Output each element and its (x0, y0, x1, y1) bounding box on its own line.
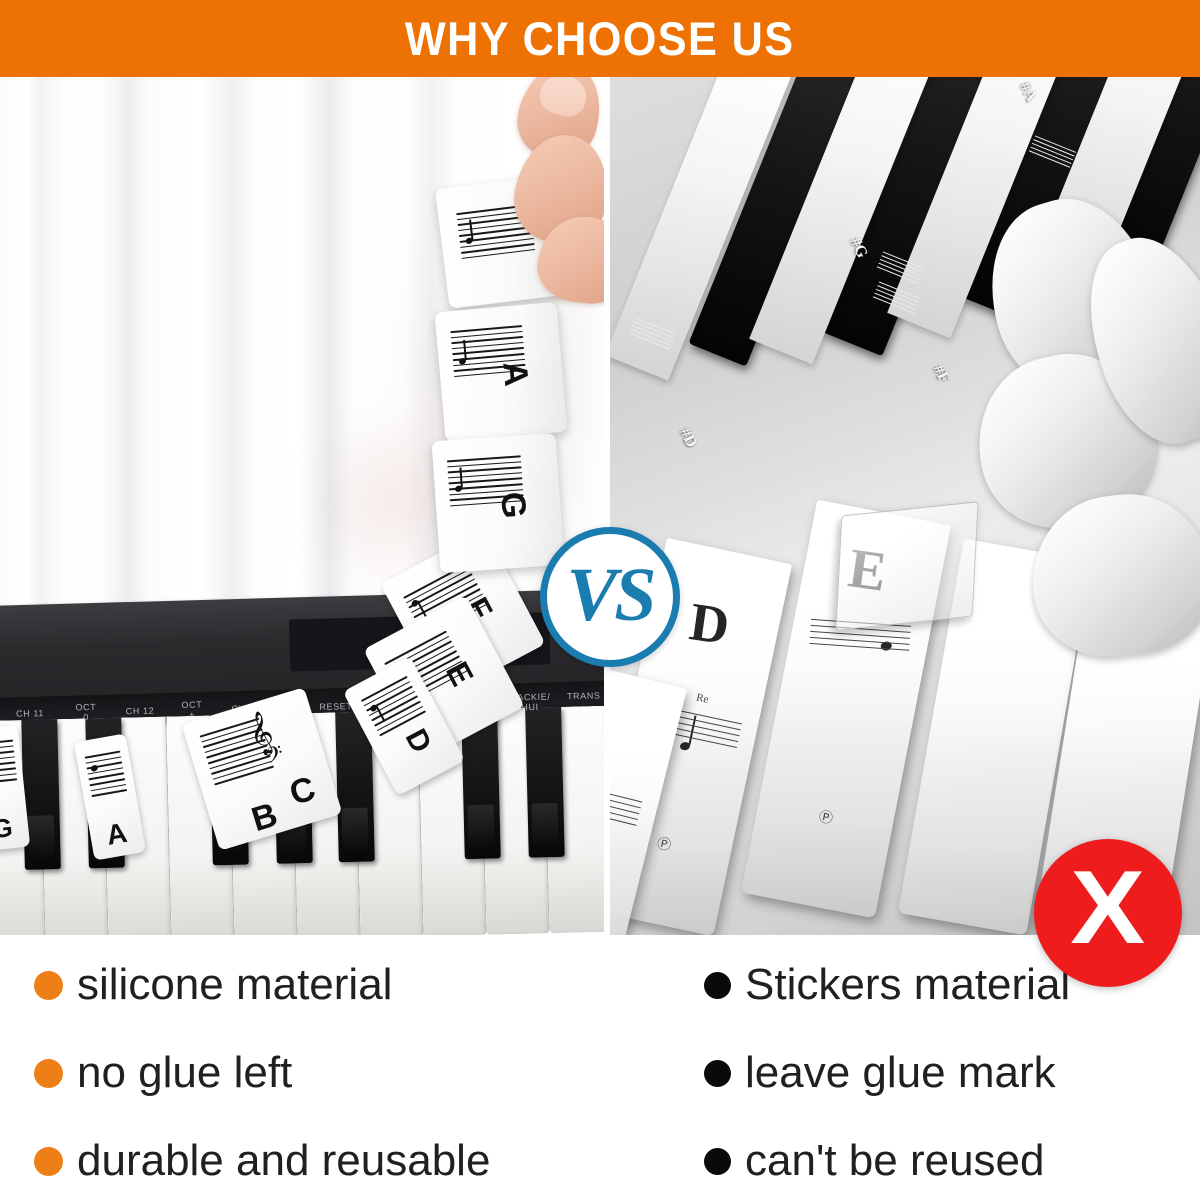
reject-label: X (1071, 856, 1146, 960)
header-banner: WHY CHOOSE US (0, 0, 1200, 77)
music-staff (85, 751, 128, 801)
bullet-dot-icon (34, 1147, 63, 1176)
octave-marker: Ⓟ (817, 806, 835, 828)
vs-badge: VS (540, 527, 680, 667)
infographic-page: WHY CHOOSE US CH 11 OCT 0 CH 12 OCT + CH… (0, 0, 1200, 1200)
list-item: silicone material (34, 953, 392, 1017)
hand-holding-strip (486, 77, 604, 287)
note-letter: G (0, 814, 14, 842)
black-key (21, 719, 61, 870)
photo-divider (604, 77, 610, 935)
photo-adhesive-stickers: #D #F #G #A D Re (610, 77, 1200, 935)
reject-badge: X (1034, 839, 1182, 987)
note-letter: G (495, 491, 531, 520)
bullet-dot-icon (704, 1060, 731, 1087)
silicone-strip-segment: G (432, 433, 565, 573)
note-letter: A (104, 819, 129, 850)
note-letter: D (686, 590, 733, 657)
photo-comparison-area: CH 11 OCT 0 CH 12 OCT + CH 1 RESET CH CH… (0, 77, 1200, 935)
panel-label: CH 12 (118, 705, 162, 716)
fingernail (536, 77, 591, 121)
note-letter: B (248, 798, 281, 838)
octave-marker: Ⓟ (655, 833, 673, 855)
feature-comparison-lists: silicone material no glue left durable a… (0, 935, 1200, 1200)
panel-label: OCT 0 (66, 702, 106, 723)
list-item-label: Stickers material (745, 963, 1070, 1007)
bullet-dot-icon (34, 1059, 63, 1088)
list-item: can't be reused (704, 1129, 1045, 1193)
list-item-label: can't be reused (745, 1139, 1045, 1183)
list-item: leave glue mark (704, 1041, 1056, 1105)
list-item: Stickers material (704, 953, 1070, 1017)
panel-label: CH 11 (8, 708, 52, 719)
music-staff (0, 739, 18, 787)
bullet-dot-icon (704, 1148, 731, 1175)
music-staff (610, 785, 642, 831)
bullet-dot-icon (34, 971, 63, 1000)
bullet-dot-icon (704, 972, 731, 999)
list-item-label: silicone material (77, 963, 392, 1007)
list-item-label: leave glue mark (745, 1051, 1056, 1095)
list-item-label: no glue left (77, 1051, 292, 1095)
panel-label: TRANS - (560, 690, 604, 711)
black-key (525, 707, 565, 858)
list-item: durable and reusable (34, 1129, 490, 1193)
photo-silicone-labels: CH 11 OCT 0 CH 12 OCT + CH 1 RESET CH CH… (0, 77, 604, 935)
list-item-label: durable and reusable (77, 1139, 490, 1183)
hand-peeling-sticker (932, 205, 1200, 665)
solfege-label: Re (695, 692, 709, 706)
note-letter: A (497, 360, 533, 387)
pros-column: silicone material no glue left durable a… (24, 935, 604, 1200)
page-title: WHY CHOOSE US (405, 15, 795, 62)
list-item: no glue left (34, 1041, 292, 1105)
note-letter: C (286, 771, 319, 811)
vs-label: VS (567, 557, 654, 633)
note-letter: D (399, 725, 436, 758)
silicone-strip-segment: A (435, 302, 568, 442)
